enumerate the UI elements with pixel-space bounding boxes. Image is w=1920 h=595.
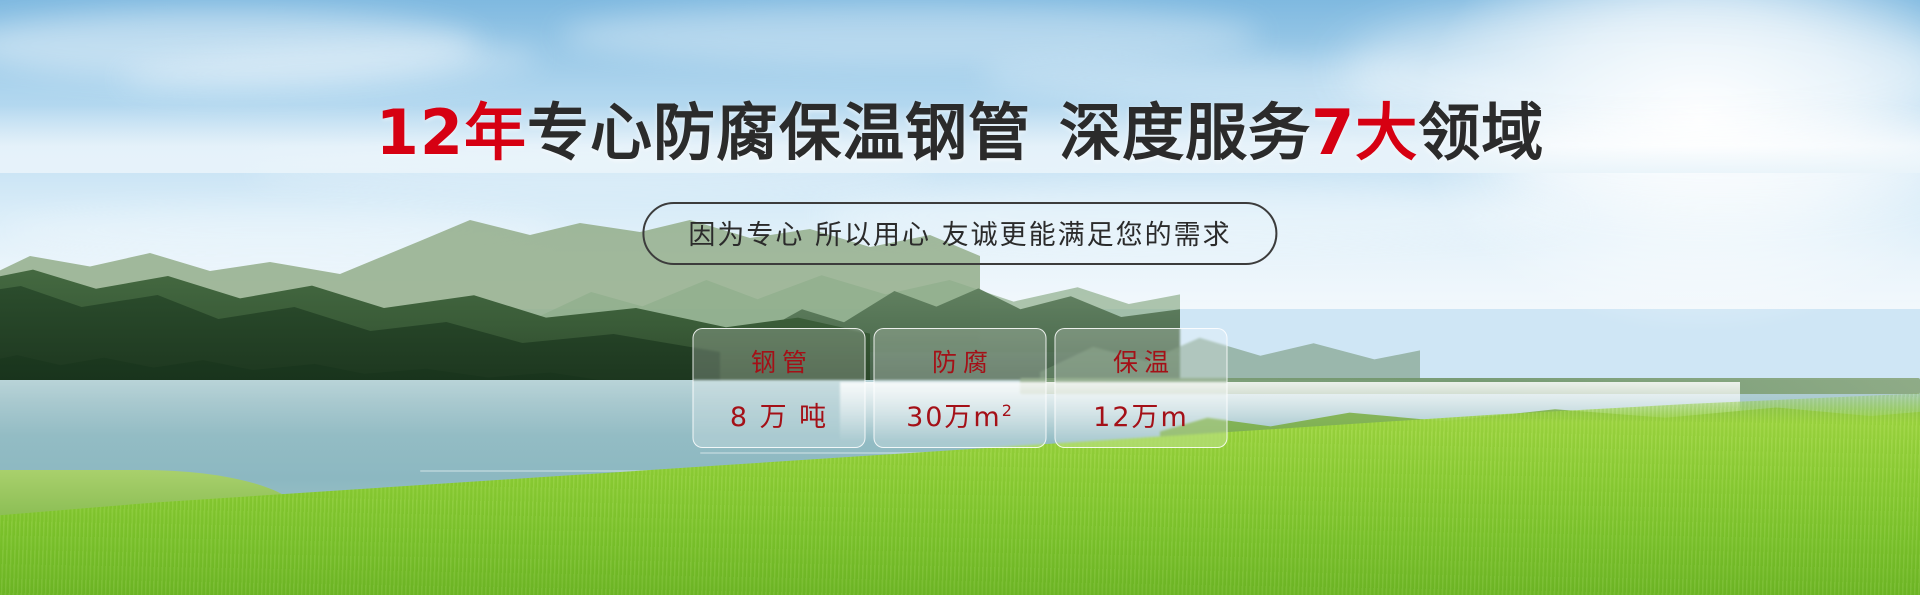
stat-card-value-superscript: 2 (1002, 401, 1014, 420)
stat-card-label: 保温 (1107, 343, 1175, 379)
hero-banner: 12年专心防腐保温钢管深度服务7大领域 因为专心 所以用心 友诚更能满足您的需求… (0, 0, 1920, 595)
headline: 12年专心防腐保温钢管深度服务7大领域 (0, 82, 1920, 172)
stat-card[interactable]: 钢管 8 万 吨 (693, 328, 866, 448)
headline-service: 深度服务 (1059, 96, 1311, 169)
headline-count: 7大 (1311, 96, 1418, 169)
headline-main: 专心防腐保温钢管 (527, 96, 1031, 169)
headline-fields: 领域 (1418, 96, 1544, 169)
stat-card-label: 防腐 (926, 343, 994, 379)
stat-card-value-base: 8 万 吨 (730, 402, 828, 433)
stat-card-label: 钢管 (745, 343, 813, 379)
stat-card-value: 30万m2 (906, 395, 1014, 434)
stat-card-list: 钢管 8 万 吨 防腐 30万m2 保温 12万m (693, 328, 1228, 448)
banner-content: 12年专心防腐保温钢管深度服务7大领域 因为专心 所以用心 友诚更能满足您的需求… (0, 0, 1920, 595)
stat-card-value: 12万m (1093, 395, 1189, 434)
stat-card-value-base: 12万m (1093, 402, 1189, 433)
stat-card-value-base: 30万m (906, 402, 1002, 433)
subtitle-text: 因为专心 所以用心 友诚更能满足您的需求 (688, 220, 1231, 251)
subtitle-pill: 因为专心 所以用心 友诚更能满足您的需求 (642, 202, 1277, 265)
stat-card-value: 8 万 吨 (730, 395, 828, 434)
stat-card[interactable]: 防腐 30万m2 (874, 328, 1047, 448)
headline-years: 12年 (376, 96, 527, 169)
stat-card[interactable]: 保温 12万m (1055, 328, 1228, 448)
